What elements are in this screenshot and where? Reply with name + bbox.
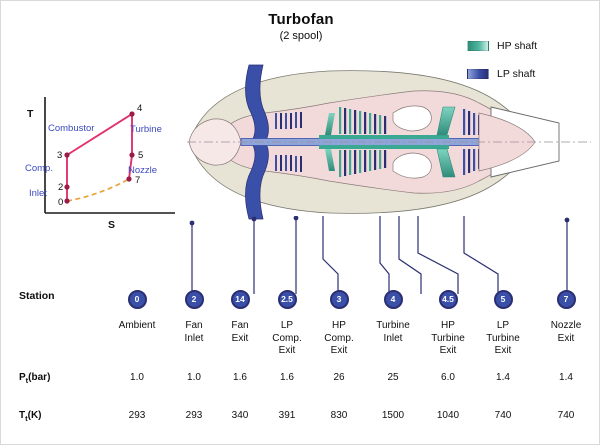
station-badge-0[interactable]: 0 bbox=[128, 290, 147, 309]
station-badge-cell-3: 3 bbox=[313, 289, 365, 318]
pressure-symbol: P bbox=[19, 372, 26, 383]
station-badge-cell-5: 5 bbox=[475, 289, 531, 318]
ts-point-label-4: 4 bbox=[137, 103, 142, 114]
pressure-value-4: 25 bbox=[365, 363, 421, 401]
station-badge-14[interactable]: 14 bbox=[231, 290, 250, 309]
leader-line-5 bbox=[464, 216, 498, 294]
ts-label-compressor: Comp. bbox=[25, 163, 53, 174]
temperature-value-7: 740 bbox=[531, 401, 600, 439]
station-badge-cell-2: 2 bbox=[169, 289, 219, 318]
station-name-3: HPComp.Exit bbox=[313, 318, 365, 363]
temperature-value-5: 740 bbox=[475, 401, 531, 439]
ts-point-0 bbox=[64, 198, 69, 203]
station-name-14: FanExit bbox=[219, 318, 261, 363]
station-badge-cell-7: 7 bbox=[531, 289, 600, 318]
ts-curve-ambient bbox=[67, 179, 129, 201]
pressure-value-7: 1.4 bbox=[531, 363, 600, 401]
ts-label-turbine: Turbine bbox=[130, 124, 162, 135]
station-badge-7[interactable]: 7 bbox=[557, 290, 576, 309]
ts-point-5 bbox=[129, 152, 134, 157]
temperature-value-14: 340 bbox=[219, 401, 261, 439]
ts-point-2 bbox=[64, 184, 69, 189]
pressure-value-4p5: 6.0 bbox=[421, 363, 475, 401]
table-row-temperature: Tt(K) 293 293 340 391 830 1500 1040 740 … bbox=[1, 401, 600, 439]
row-label-station: Station bbox=[1, 289, 105, 318]
hp-shaft-swatch bbox=[467, 41, 489, 51]
station-badge-2[interactable]: 2 bbox=[185, 290, 204, 309]
table-row-station-badges: Station 0 2 14 2.5 3 4 bbox=[1, 289, 600, 318]
ts-label-inlet: Inlet bbox=[29, 188, 47, 199]
ts-label-nozzle: Nozzle bbox=[128, 165, 157, 176]
temperature-value-4: 1500 bbox=[365, 401, 421, 439]
station-badge-cell-4p5: 4.5 bbox=[421, 289, 475, 318]
station-name-7: NozzleExit bbox=[531, 318, 600, 363]
engine-cutaway-diagram bbox=[179, 51, 597, 231]
ts-point-label-7: 7 bbox=[135, 175, 140, 186]
hp-shaft-upper bbox=[319, 135, 449, 139]
temperature-value-0: 293 bbox=[105, 401, 169, 439]
temperature-unit: (K) bbox=[28, 410, 42, 421]
row-label-temperature: Tt(K) bbox=[1, 401, 105, 439]
station-name-4p5: HPTurbineExit bbox=[421, 318, 475, 363]
ts-point-label-2: 2 bbox=[58, 182, 63, 193]
pressure-value-14: 1.6 bbox=[219, 363, 261, 401]
leader-line-3 bbox=[380, 216, 389, 294]
ts-diagram: T S 0 bbox=[15, 89, 190, 229]
combustor-upper bbox=[393, 106, 431, 131]
diagram-page: Turbofan (2 spool) HP shaft LP shaft T S bbox=[1, 1, 599, 444]
station-badge-cell-4: 4 bbox=[365, 289, 421, 318]
ts-point-7 bbox=[126, 176, 131, 181]
ts-point-4 bbox=[129, 111, 134, 116]
leader-line-4p5 bbox=[418, 216, 458, 294]
temperature-value-3: 830 bbox=[313, 401, 365, 439]
pressure-value-2: 1.0 bbox=[169, 363, 219, 401]
row-label-pressure: Pt(bar) bbox=[1, 363, 105, 401]
station-badge-4p5[interactable]: 4.5 bbox=[439, 290, 458, 309]
table-row-station-names: Ambient FanInlet FanExit LPComp.Exit HPC… bbox=[1, 318, 600, 363]
pressure-value-5: 1.4 bbox=[475, 363, 531, 401]
hp-shaft-lower bbox=[319, 145, 449, 149]
temperature-value-2: 293 bbox=[169, 401, 219, 439]
station-name-5: LPTurbineExit bbox=[475, 318, 531, 363]
ts-label-combustor: Combustor bbox=[48, 123, 94, 134]
pressure-value-0: 1.0 bbox=[105, 363, 169, 401]
station-name-0: Ambient bbox=[105, 318, 169, 363]
ts-point-label-3: 3 bbox=[57, 150, 62, 161]
temperature-value-4p5: 1040 bbox=[421, 401, 475, 439]
leader-line-2p5 bbox=[323, 216, 338, 294]
table-row-pressure: Pt(bar) 1.0 1.0 1.6 1.6 26 25 6.0 1.4 1.… bbox=[1, 363, 600, 401]
station-badge-4[interactable]: 4 bbox=[384, 290, 403, 309]
station-name-4: TurbineInlet bbox=[365, 318, 421, 363]
station-name-2: FanInlet bbox=[169, 318, 219, 363]
ts-point-3 bbox=[64, 152, 69, 157]
ts-point-label-5: 5 bbox=[138, 150, 143, 161]
station-name-2p5: LPComp.Exit bbox=[261, 318, 313, 363]
station-table: Station 0 2 14 2.5 3 4 bbox=[1, 289, 600, 439]
temperature-value-2p5: 391 bbox=[261, 401, 313, 439]
pressure-unit: (bar) bbox=[28, 372, 50, 383]
station-badge-2p5[interactable]: 2.5 bbox=[278, 290, 297, 309]
row-label-spacer bbox=[1, 318, 105, 363]
station-badge-5[interactable]: 5 bbox=[494, 290, 513, 309]
station-badge-3[interactable]: 3 bbox=[330, 290, 349, 309]
station-badge-cell-2p5: 2.5 bbox=[261, 289, 313, 318]
station-badge-cell-14: 14 bbox=[219, 289, 261, 318]
ts-curve-combustor bbox=[67, 114, 132, 155]
combustor-lower bbox=[393, 153, 431, 178]
ts-point-label-0: 0 bbox=[58, 197, 63, 208]
page-title: Turbofan bbox=[1, 11, 600, 28]
pressure-value-3: 26 bbox=[313, 363, 365, 401]
pressure-value-2p5: 1.6 bbox=[261, 363, 313, 401]
ts-axis-y-label: T bbox=[27, 108, 34, 120]
station-badge-cell-0: 0 bbox=[105, 289, 169, 318]
